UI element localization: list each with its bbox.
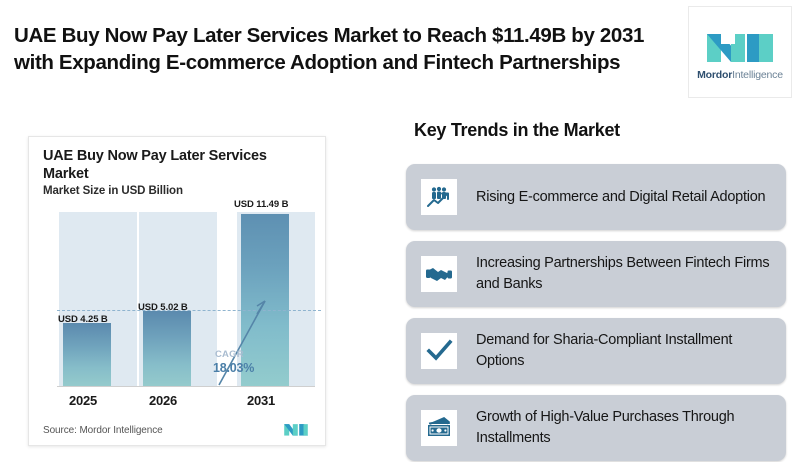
trends-heading: Key Trends in the Market: [414, 120, 620, 141]
trend-label: Demand for Sharia-Compliant Installment …: [476, 330, 772, 371]
cagr-value: 18.03%: [213, 361, 254, 375]
banknotes-icon: [421, 410, 457, 446]
chart-plot-area: [57, 212, 315, 387]
trend-card-sharia[interactable]: Demand for Sharia-Compliant Installment …: [406, 318, 786, 384]
cagr-label: CAGR: [215, 349, 244, 360]
checkmark-icon: [421, 333, 457, 369]
x-axis-label-2031: 2031: [237, 393, 285, 408]
market-chart-card: UAE Buy Now Pay Later Services Market Ma…: [28, 136, 326, 446]
brand-logo: MordorIntelligence: [688, 6, 792, 98]
bar-label-2031: USD 11.49 B: [234, 199, 288, 210]
mordor-intelligence-logo-icon: [705, 24, 775, 66]
trend-card-high-value[interactable]: Growth of High-Value Purchases Through I…: [406, 395, 786, 461]
trend-card-partnerships[interactable]: Increasing Partnerships Between Fintech …: [406, 241, 786, 307]
trend-label: Rising E-commerce and Digital Retail Ado…: [476, 187, 765, 208]
brand-name-light: Intelligence: [732, 69, 783, 81]
people-growth-chart-icon: [421, 179, 457, 215]
chart-source: Source: Mordor Intelligence: [43, 425, 163, 436]
bar-label-2026: USD 5.02 B: [138, 302, 188, 313]
mordor-mark-icon: [283, 422, 309, 437]
chart-title: UAE Buy Now Pay Later Services Market: [43, 147, 293, 183]
trend-card-ecommerce[interactable]: Rising E-commerce and Digital Retail Ado…: [406, 164, 786, 230]
trend-label: Growth of High-Value Purchases Through I…: [476, 407, 772, 448]
trend-label: Increasing Partnerships Between Fintech …: [476, 253, 772, 294]
bar-label-2025: USD 4.25 B: [58, 314, 108, 325]
x-axis-label-2025: 2025: [59, 393, 107, 408]
brand-wordmark: MordorIntelligence: [697, 69, 783, 81]
brand-name-bold: Mordor: [697, 69, 732, 81]
page-title: UAE Buy Now Pay Later Services Market to…: [14, 22, 674, 76]
x-axis-label-2026: 2026: [139, 393, 187, 408]
chart-subtitle: Market Size in USD Billion: [43, 185, 183, 197]
handshake-icon: [421, 256, 457, 292]
